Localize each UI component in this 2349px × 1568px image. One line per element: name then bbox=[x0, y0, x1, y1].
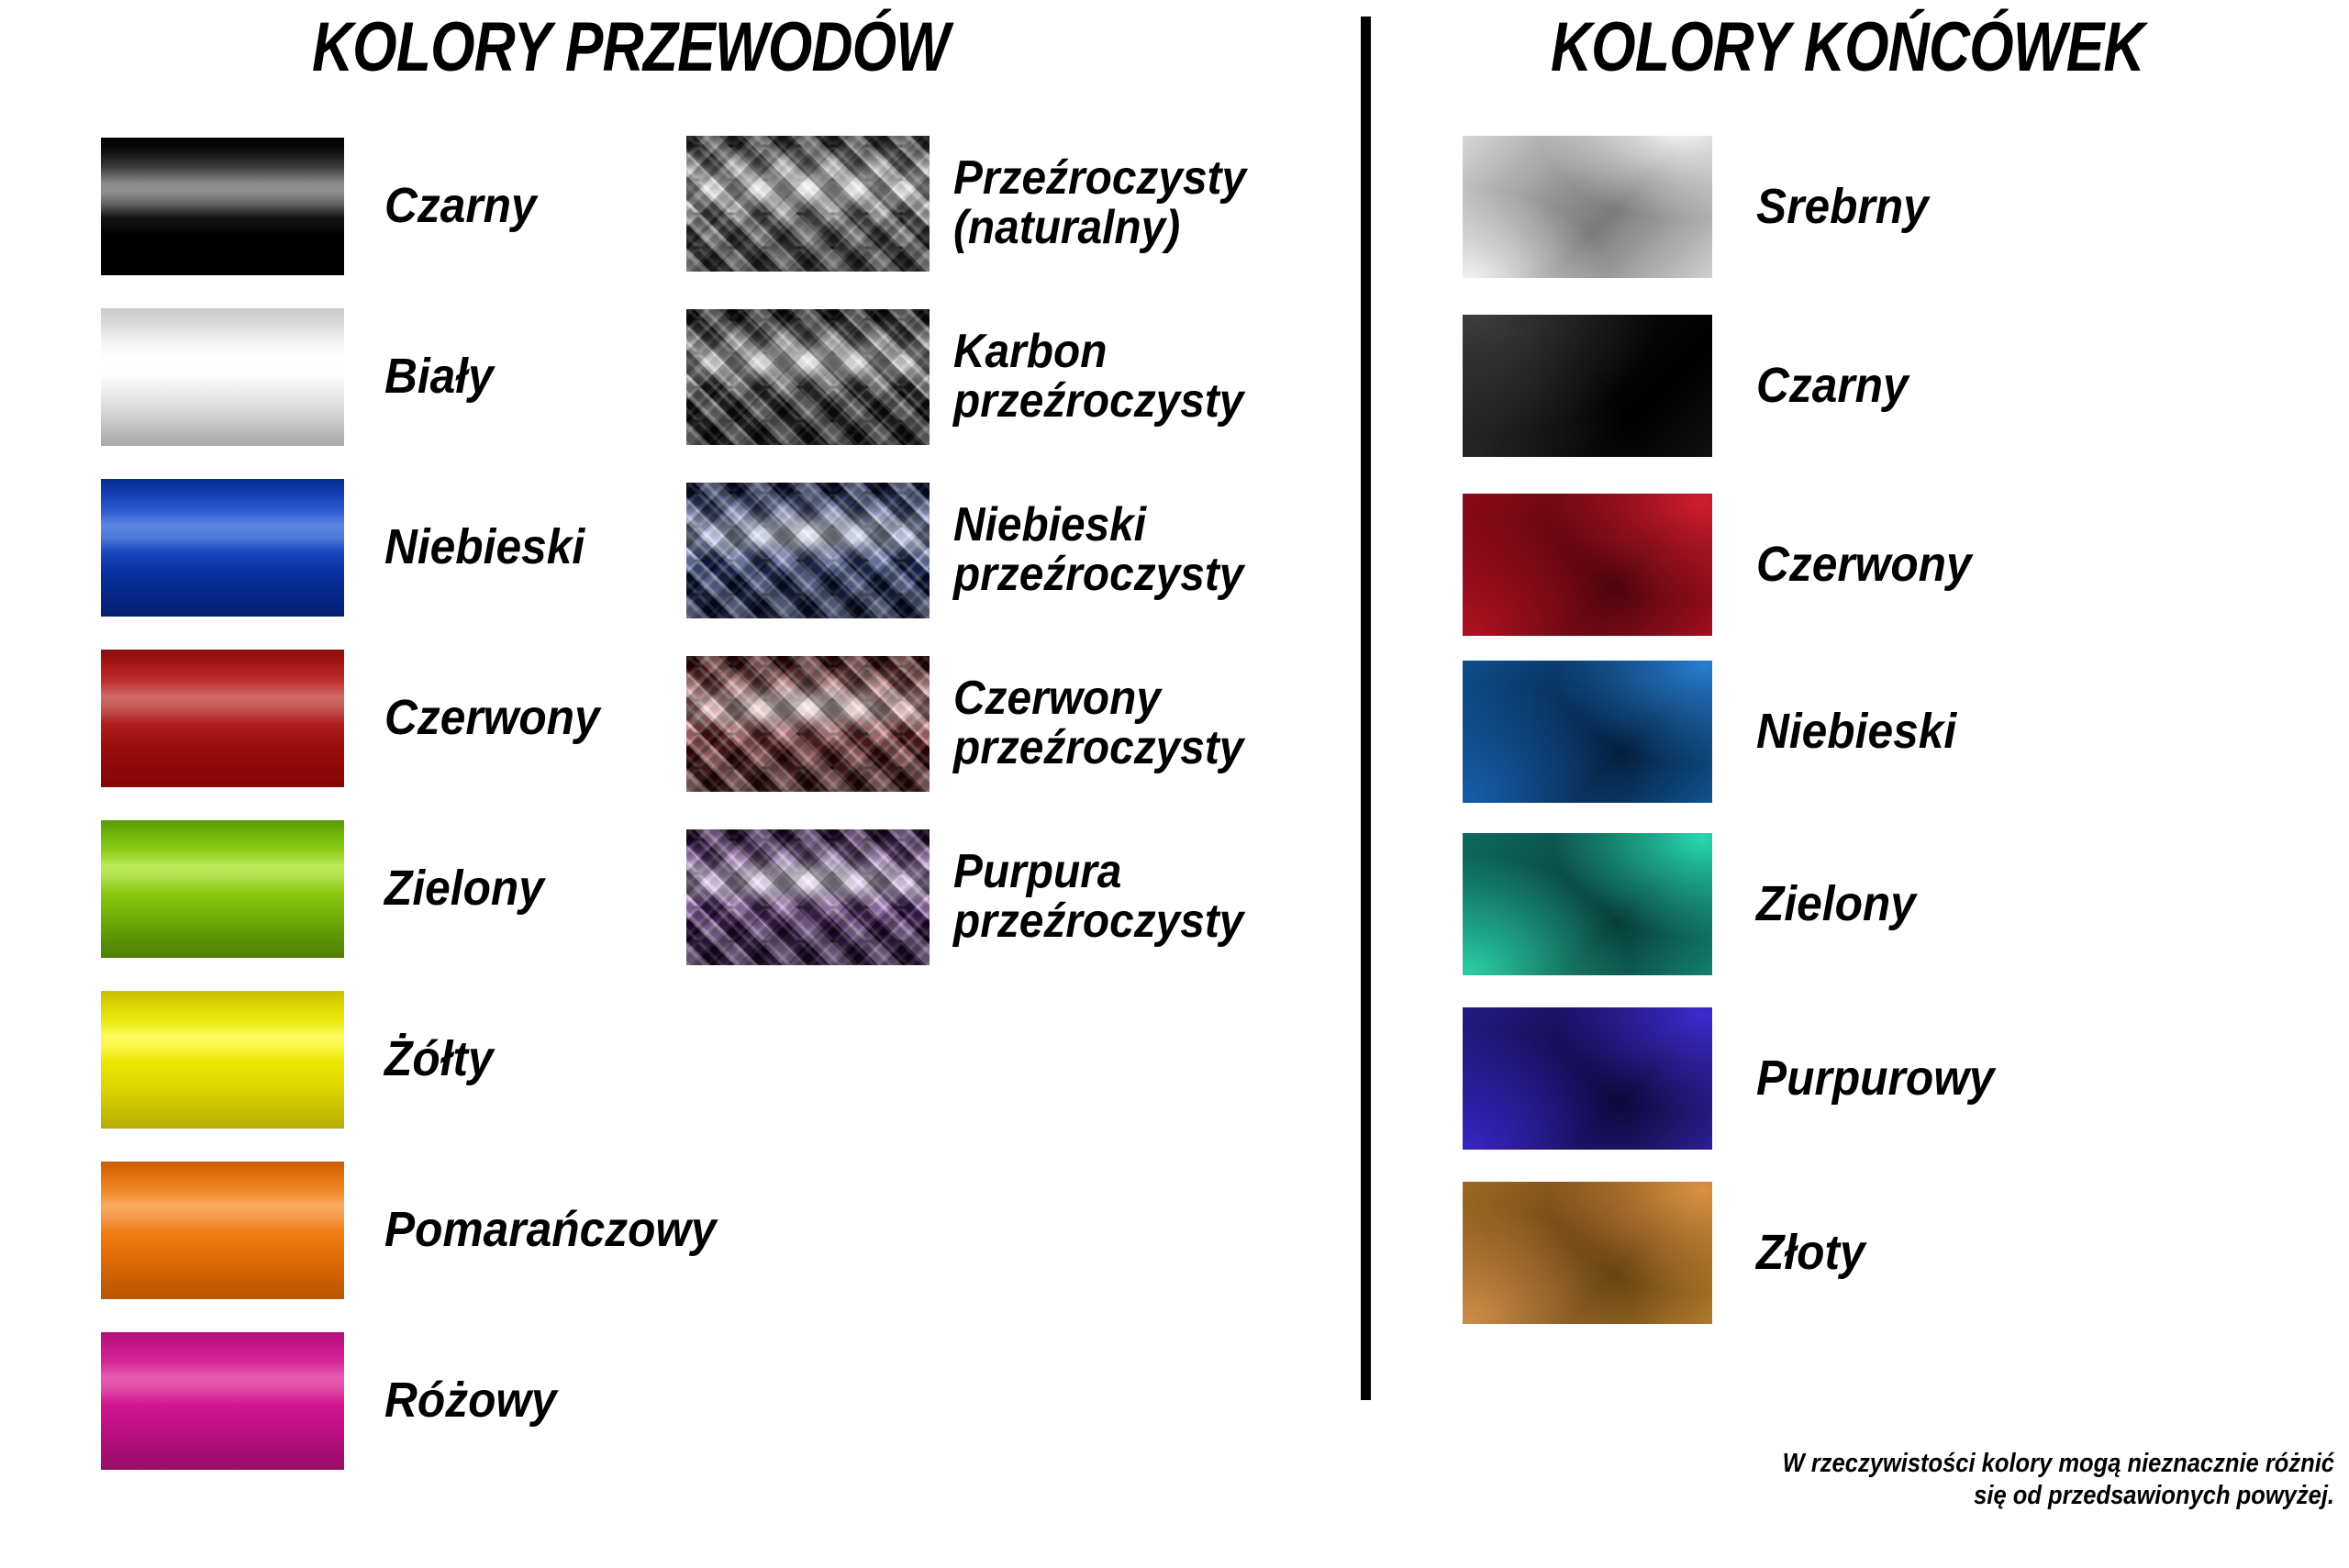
list-item: Srebrny bbox=[1463, 136, 1943, 278]
list-item: Biały bbox=[101, 308, 503, 446]
swatch-label: Srebrny bbox=[1756, 182, 1929, 233]
disclaimer-note: W rzeczywistości kolory mogą nieznacznie… bbox=[1753, 1448, 2334, 1513]
list-item: Czerwony bbox=[1463, 494, 1990, 636]
list-item: Niebieski bbox=[1463, 661, 1974, 803]
weave-holes bbox=[686, 136, 930, 272]
list-item: Czerwony bbox=[101, 650, 618, 787]
swatch-label: Niebieski przeźroczysty bbox=[953, 501, 1243, 599]
swatch-label: Przeźroczysty (naturalny) bbox=[953, 154, 1246, 252]
weave-holes bbox=[686, 309, 930, 445]
swatch-label: Niebieski bbox=[384, 522, 584, 573]
list-item: Czarny bbox=[101, 138, 550, 275]
swatch-label: Różowy bbox=[384, 1375, 557, 1427]
niebieski-przezroczysty-swatch bbox=[686, 483, 930, 618]
swatch-label: Purpurowy bbox=[1756, 1053, 1994, 1105]
list-item: Różowy bbox=[101, 1332, 572, 1470]
page-title-terminal-colors: KOLORY KOŃCÓWEK bbox=[1551, 7, 2144, 87]
niebieski-swatch bbox=[1463, 661, 1712, 803]
list-item: Zielony bbox=[1463, 833, 1930, 975]
bialy-swatch bbox=[101, 308, 344, 446]
zolty-swatch bbox=[101, 991, 344, 1129]
weave-sheen bbox=[686, 483, 930, 618]
weave-holes bbox=[686, 483, 930, 618]
list-item: Niebieski bbox=[101, 479, 602, 617]
swatch-label: Biały bbox=[384, 351, 494, 403]
czarny-swatch bbox=[1463, 315, 1712, 457]
color-chart-page: KOLORY PRZEWODÓW KOLORY KOŃCÓWEK Czarny … bbox=[0, 0, 2349, 1568]
czerwony-swatch bbox=[1463, 494, 1712, 636]
list-item: Pomarańczowy bbox=[101, 1162, 745, 1299]
swatch-label: Złoty bbox=[1756, 1228, 1865, 1279]
zielony-swatch bbox=[101, 820, 344, 958]
zielony-swatch bbox=[1463, 833, 1712, 975]
swatch-label: Niebieski bbox=[1756, 706, 1956, 758]
section-divider bbox=[1361, 17, 1371, 1400]
niebieski-swatch bbox=[101, 479, 344, 617]
list-item: Zielony bbox=[101, 820, 558, 958]
list-item: Złoty bbox=[1463, 1182, 1875, 1324]
purpurowy-swatch bbox=[1463, 1007, 1712, 1150]
purpura-przezroczysty-swatch bbox=[686, 829, 930, 965]
swatch-label: Purpura przeźroczysty bbox=[953, 848, 1243, 946]
list-item: Przeźroczysty (naturalny) bbox=[686, 136, 1272, 272]
list-item: Niebieski przeźroczysty bbox=[686, 483, 1269, 618]
list-item: Żółty bbox=[101, 991, 503, 1129]
weave-sheen bbox=[686, 829, 930, 965]
swatch-label: Zielony bbox=[384, 863, 544, 915]
swatch-label: Czarny bbox=[384, 181, 537, 232]
srebrny-swatch bbox=[1463, 136, 1712, 278]
weave-holes bbox=[686, 656, 930, 792]
zloty-swatch bbox=[1463, 1182, 1712, 1324]
weave-sheen bbox=[686, 136, 930, 272]
swatch-label: Czerwony bbox=[1756, 539, 1972, 591]
swatch-label: Karbon przeźroczysty bbox=[953, 328, 1243, 426]
swatch-label: Czarny bbox=[1756, 361, 1909, 412]
przezroczysty-naturalny-swatch bbox=[686, 136, 930, 272]
czarny-swatch bbox=[101, 138, 344, 275]
list-item: Purpura przeźroczysty bbox=[686, 829, 1269, 965]
page-title-wire-colors: KOLORY PRZEWODÓW bbox=[312, 7, 949, 87]
swatch-label: Żółty bbox=[384, 1034, 494, 1085]
rozowy-swatch bbox=[101, 1332, 344, 1470]
karbon-przezroczysty-swatch bbox=[686, 309, 930, 445]
czerwony-przezroczysty-swatch bbox=[686, 656, 930, 792]
czerwony-swatch bbox=[101, 650, 344, 787]
swatch-label: Pomarańczowy bbox=[384, 1205, 717, 1256]
list-item: Czarny bbox=[1463, 315, 1921, 457]
swatch-label: Czerwony bbox=[384, 693, 600, 744]
pomaranczowy-swatch bbox=[101, 1162, 344, 1299]
swatch-label: Czerwony przeźroczysty bbox=[953, 674, 1243, 773]
swatch-label: Zielony bbox=[1756, 879, 1916, 930]
list-item: Purpurowy bbox=[1463, 1007, 2015, 1150]
list-item: Czerwony przeźroczysty bbox=[686, 656, 1269, 792]
list-item: Karbon przeźroczysty bbox=[686, 309, 1269, 445]
weave-holes bbox=[686, 829, 930, 965]
weave-sheen bbox=[686, 656, 930, 792]
weave-sheen bbox=[686, 309, 930, 445]
